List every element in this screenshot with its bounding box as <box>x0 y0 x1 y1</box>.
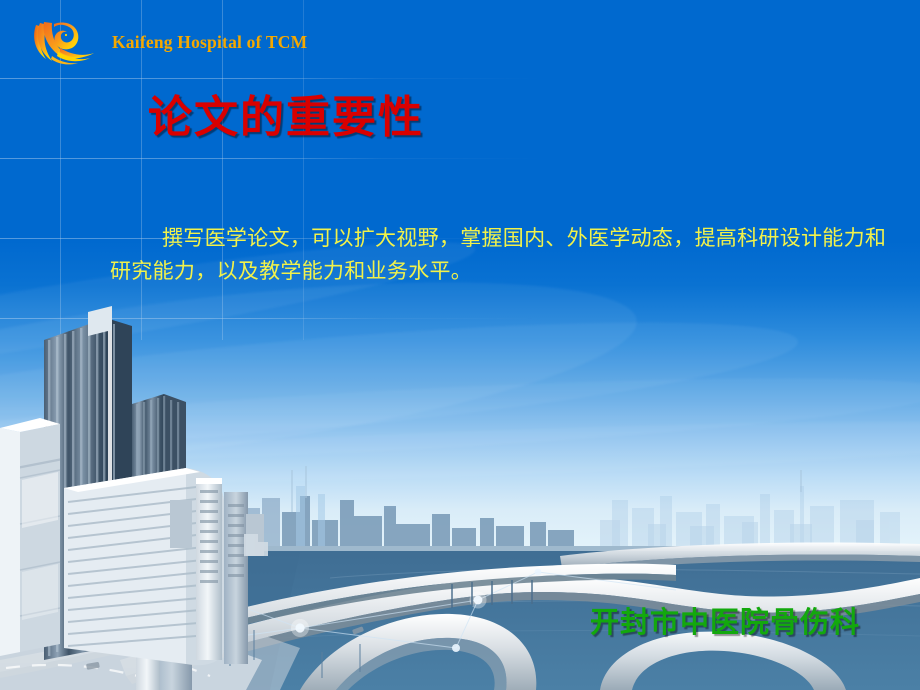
slide-canvas: Kaifeng Hospital of TCM 论文的重要性 撰写医学论文，可以… <box>0 0 920 690</box>
phoenix-yinyang-logo-icon <box>30 18 100 66</box>
body-paragraph: 撰写医学论文，可以扩大视野，掌握国内、外医学动态，提高科研设计能力和研究能力，以… <box>110 222 900 288</box>
city-illustration <box>0 0 920 690</box>
brand-title: Kaifeng Hospital of TCM <box>112 32 307 53</box>
page-title: 论文的重要性 <box>148 96 424 140</box>
footer-department: 开封市中医院骨伤科 <box>590 608 860 637</box>
slide-header: Kaifeng Hospital of TCM <box>30 18 307 66</box>
